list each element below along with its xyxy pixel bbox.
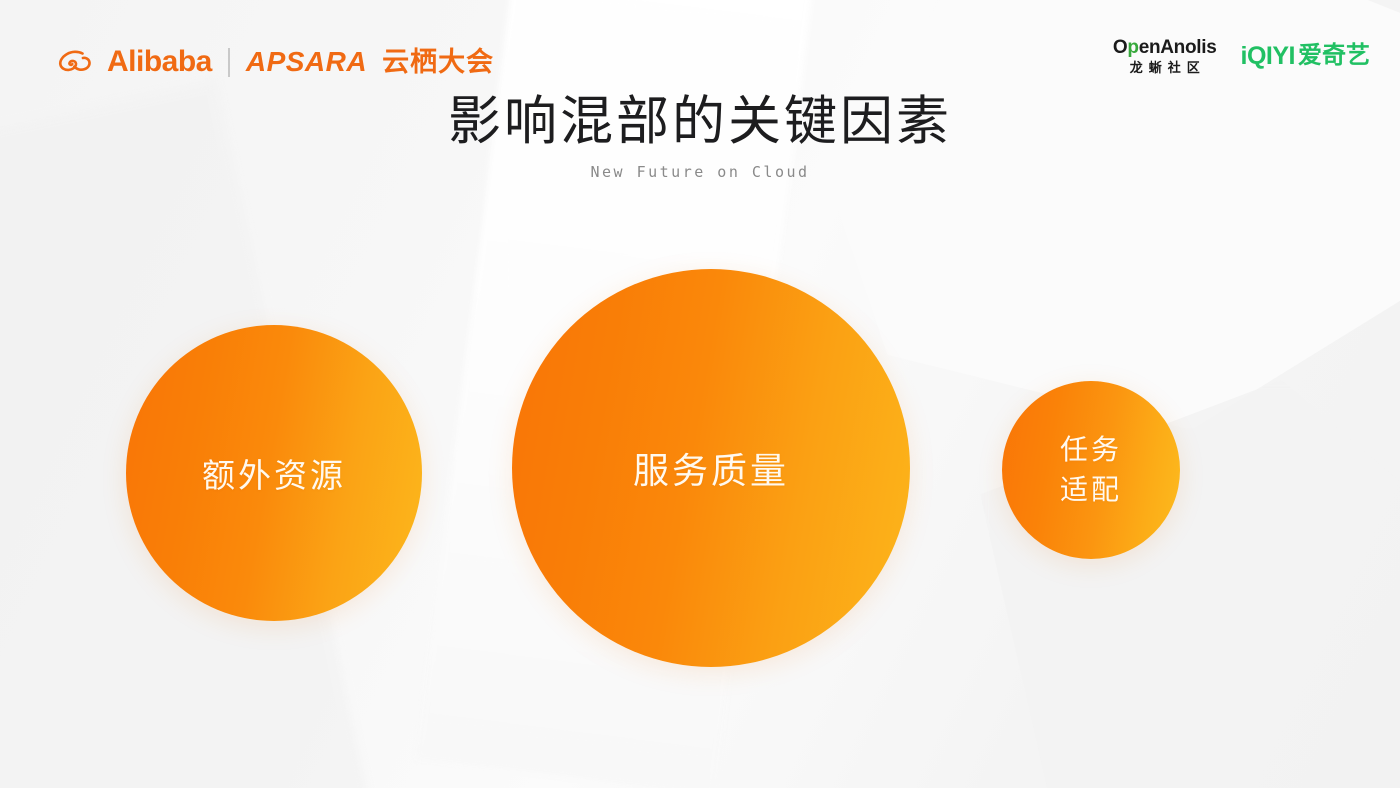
factor-label-task-adaptation-line1: 任务	[1060, 430, 1122, 470]
page-subtitle: New Future on Cloud	[0, 163, 1400, 181]
alibaba-wordmark: Alibaba	[107, 47, 212, 77]
presentation-slide: Alibaba APSARA 云栖大会 O p enAnolis 龙蜥社区 iQ…	[0, 0, 1400, 788]
iqiyi-logo: iQIYI 爱奇艺	[1241, 44, 1370, 69]
factor-circle-extra-resource: 额外资源	[126, 325, 422, 621]
openanolis-name-part3: enAnolis	[1139, 38, 1217, 57]
factor-label-task-adaptation-line2: 适配	[1060, 470, 1122, 510]
openanolis-leaf-p-icon: p	[1127, 38, 1138, 57]
openanolis-logo: O p enAnolis 龙蜥社区	[1113, 38, 1217, 74]
iqiyi-chinese-label: 爱奇艺	[1298, 44, 1370, 68]
factor-label-extra-resource: 额外资源	[202, 449, 346, 497]
openanolis-wordmark: O p enAnolis	[1113, 38, 1217, 57]
openanolis-name-part1: O	[1113, 38, 1127, 57]
page-title: 影响混部的关键因素	[0, 92, 1400, 153]
factor-label-service-quality: 服务质量	[633, 442, 789, 494]
iqiyi-wordmark: iQIYI	[1241, 44, 1295, 69]
alibaba-apsara-logo-group: Alibaba APSARA 云栖大会	[52, 42, 494, 82]
factor-circle-task-adaptation: 任务 适配	[1002, 381, 1180, 559]
logo-divider	[228, 48, 230, 77]
partner-logo-group: O p enAnolis 龙蜥社区 iQIYI 爱奇艺	[1113, 38, 1370, 74]
title-block: 影响混部的关键因素 New Future on Cloud	[0, 92, 1400, 181]
apsara-chinese-label: 云栖大会	[382, 49, 494, 76]
factor-label-task-adaptation: 任务 适配	[1060, 430, 1122, 510]
openanolis-chinese-subtitle: 龙蜥社区	[1124, 61, 1206, 74]
factor-circle-service-quality: 服务质量	[512, 269, 910, 667]
apsara-wordmark: APSARA	[246, 48, 367, 76]
alibaba-mark-icon	[52, 46, 94, 78]
